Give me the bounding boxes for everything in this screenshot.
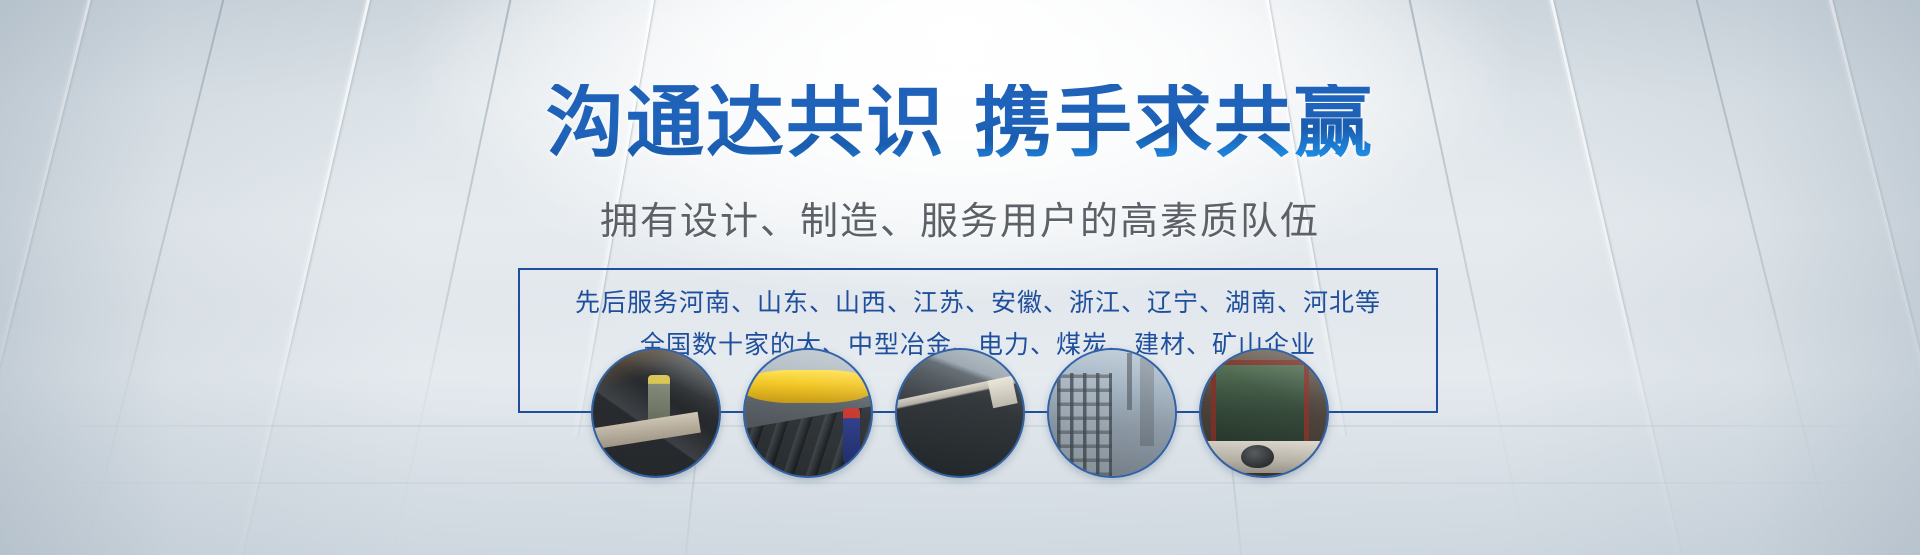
photo-workshop-equipment [1199,348,1329,478]
photo-gloss-overlay [593,350,719,476]
photo-yellow-tank-pipes [743,348,873,478]
headline-part-1: 沟通达共识 [546,78,946,168]
page-subtitle: 拥有设计、制造、服务用户的高素质队伍 [0,200,1920,246]
promo-banner: 沟通达共识携手求共赢 拥有设计、制造、服务用户的高素质队伍 先后服务河南、山东、… [0,0,1920,555]
photo-gloss-overlay [1049,350,1175,476]
headline-part-2: 携手求共赢 [974,78,1374,168]
photo-industrial-plant-structure [1047,348,1177,478]
service-info-line-1: 先后服务河南、山东、山西、江苏、安徽、浙江、辽宁、湖南、河北等 [518,282,1438,324]
photo-gloss-overlay [1201,350,1327,476]
photo-lining-installation [591,348,721,478]
photo-gloss-overlay [745,350,871,476]
page-title: 沟通达共识携手求共赢 [0,84,1920,162]
photo-gloss-overlay [897,350,1023,476]
project-photo-gallery [0,348,1920,478]
photo-steel-panel-lifting [895,348,1025,478]
